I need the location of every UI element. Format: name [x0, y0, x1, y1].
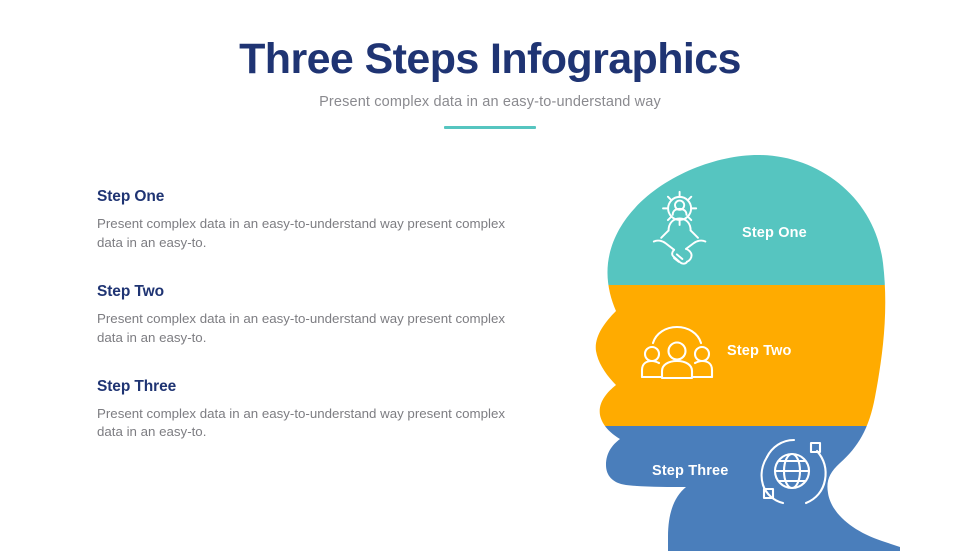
head-infographic: Step One Step Two: [590, 145, 900, 551]
step-block-one: Step One Present complex data in an easy…: [97, 188, 527, 253]
step-three-heading: Step Three: [97, 378, 527, 396]
step-two-heading: Step Two: [97, 283, 527, 301]
band-label-step-one: Step One: [742, 225, 807, 241]
band-step-three: [580, 426, 920, 551]
steps-description-list: Step One Present complex data in an easy…: [97, 188, 527, 442]
title-underline-rule: [444, 126, 536, 129]
head-silhouette-svg: Step One Step Two: [590, 145, 900, 551]
page-subtitle: Present complex data in an easy-to-under…: [0, 94, 980, 110]
step-one-body: Present complex data in an easy-to-under…: [97, 215, 522, 253]
step-two-body: Present complex data in an easy-to-under…: [97, 310, 522, 348]
slide-canvas: Three Steps Infographics Present complex…: [0, 0, 980, 551]
step-one-heading: Step One: [97, 188, 527, 206]
step-block-three: Step Three Present complex data in an ea…: [97, 378, 527, 443]
band-step-one: [580, 145, 920, 285]
band-label-step-two: Step Two: [727, 343, 792, 359]
step-block-two: Step Two Present complex data in an easy…: [97, 283, 527, 348]
page-title: Three Steps Infographics: [0, 36, 980, 82]
slide-header: Three Steps Infographics Present complex…: [0, 36, 980, 129]
step-three-body: Present complex data in an easy-to-under…: [97, 405, 522, 443]
band-label-step-three: Step Three: [652, 463, 728, 479]
